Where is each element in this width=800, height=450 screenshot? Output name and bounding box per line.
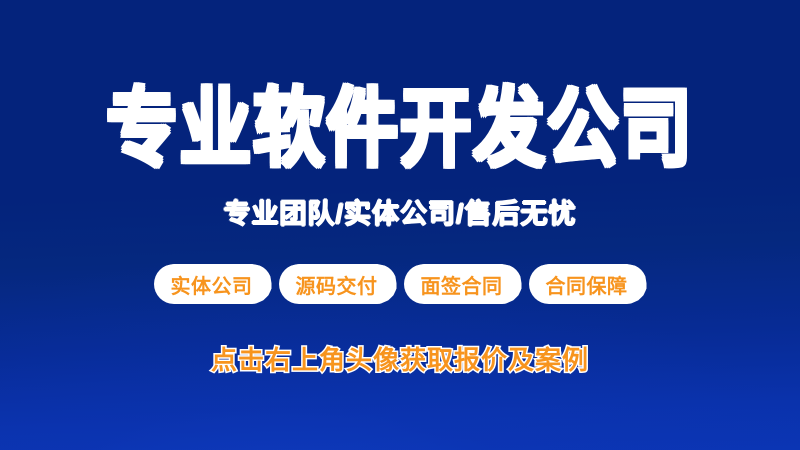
promo-banner: 专业软件开发公司 专业团队/实体公司/售后无忧 实体公司 源码交付 面签合同 合… (0, 0, 800, 450)
badge-label: 实体公司 (171, 270, 253, 299)
badge-label: 合同保障 (546, 270, 628, 299)
page-title: 专业软件开发公司 (106, 86, 694, 171)
badge-row: 实体公司 源码交付 面签合同 合同保障 (154, 264, 647, 304)
subtitle: 专业团队/实体公司/售后无忧 (223, 192, 576, 231)
badge-source-code-delivery[interactable]: 源码交付 (279, 264, 397, 304)
badge-label: 源码交付 (296, 270, 378, 299)
badge-label: 面签合同 (421, 270, 503, 299)
badge-in-person-contract[interactable]: 面签合同 (404, 264, 522, 304)
cta-text[interactable]: 点击右上角头像获取报价及案例 (211, 340, 589, 377)
content-stack: 专业软件开发公司 专业团队/实体公司/售后无忧 实体公司 源码交付 面签合同 合… (0, 0, 800, 450)
badge-contract-guarantee[interactable]: 合同保障 (529, 264, 647, 304)
badge-entity-company[interactable]: 实体公司 (154, 264, 272, 304)
